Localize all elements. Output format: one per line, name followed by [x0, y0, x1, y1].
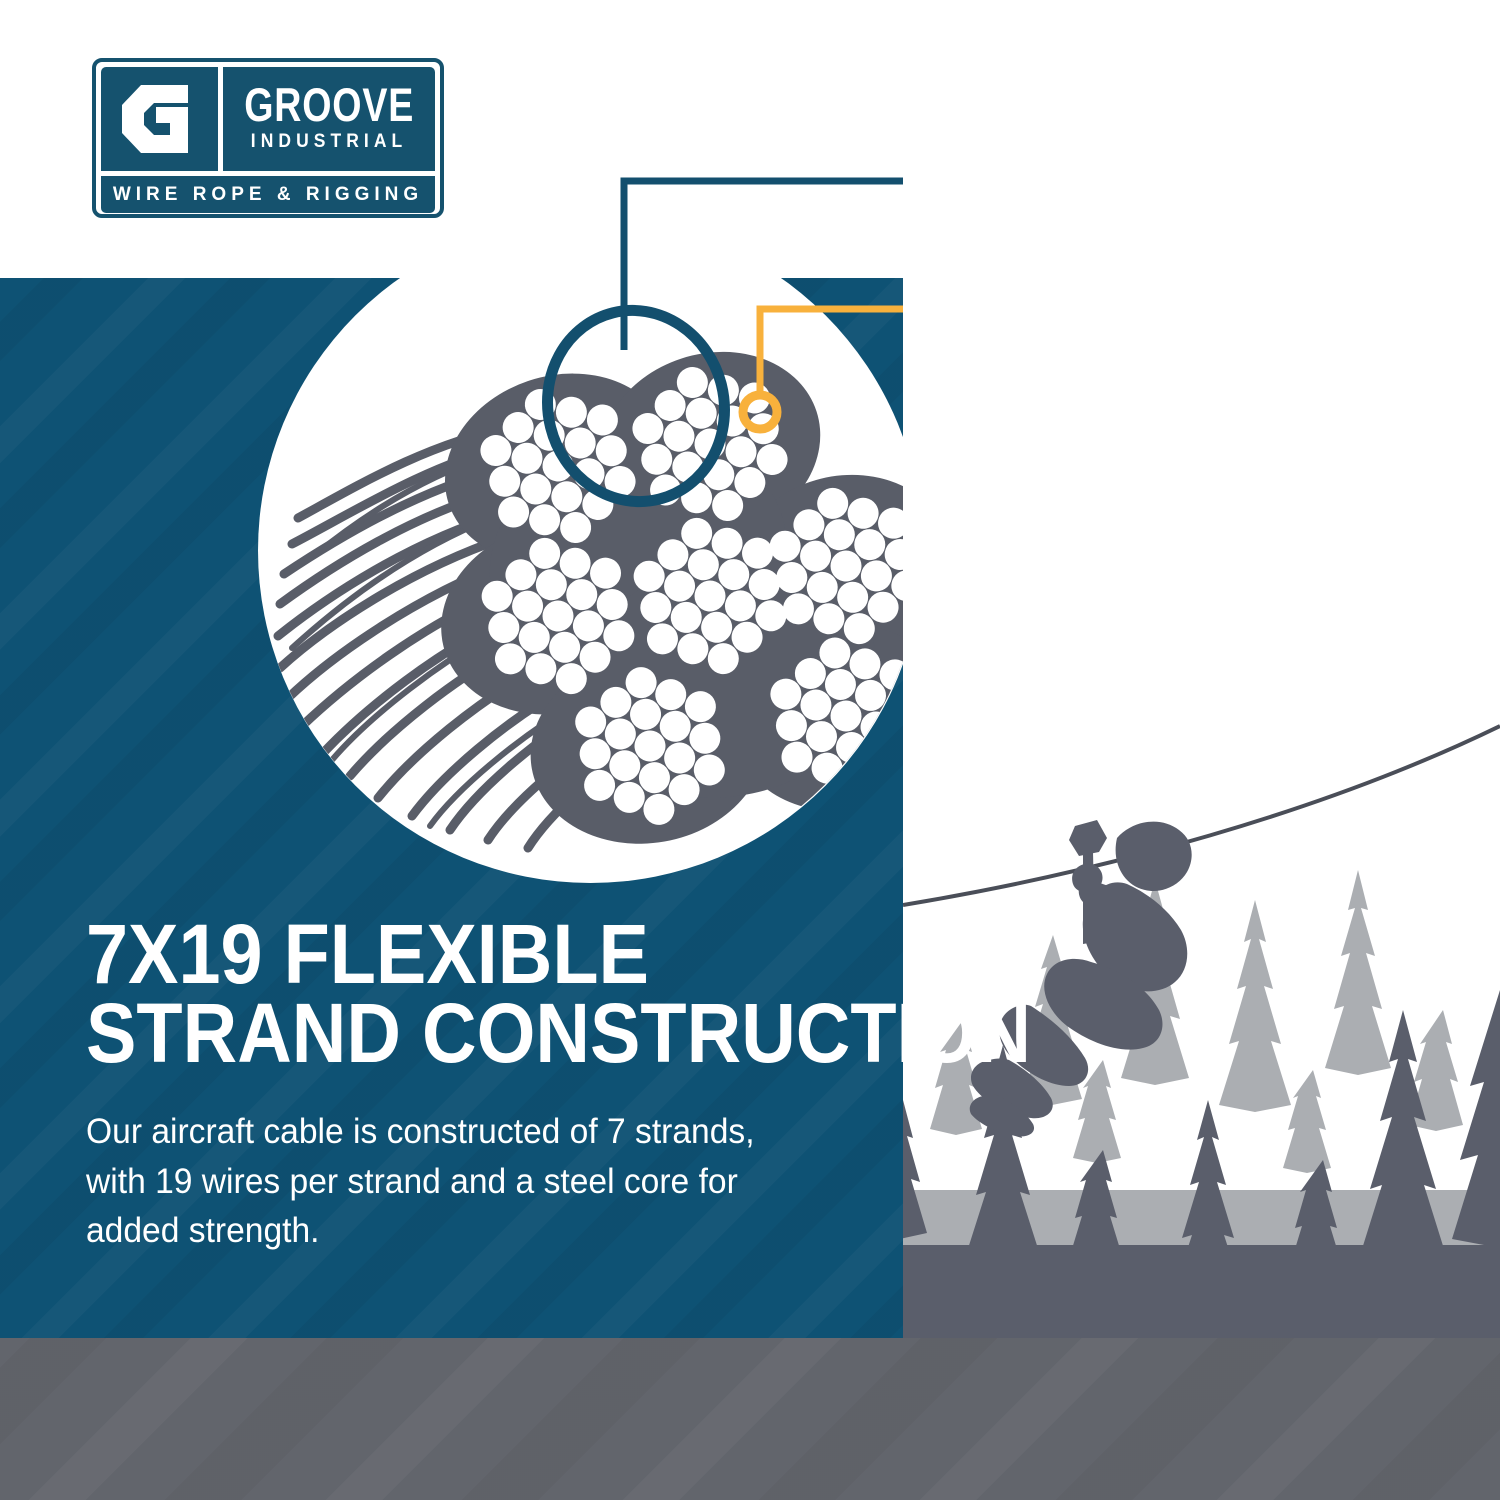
infographic-canvas: 7 STRANDS 19 WIRES PER STRAND HOT DIP GA…: [0, 0, 1500, 1500]
page-title: 7X19 FLEXIBLE STRAND CONSTRUCTION: [86, 915, 797, 1073]
bottom-gray-band: [0, 1338, 1500, 1500]
brand-logo[interactable]: GROOVE INDUSTRIAL WIRE ROPE & RIGGING: [92, 58, 444, 218]
band-stripe-texture: [0, 1338, 1500, 1500]
page-description: Our aircraft cable is constructed of 7 s…: [86, 1107, 758, 1256]
brand-name-line1: GROOVE: [244, 83, 414, 127]
brand-name-line2: INDUSTRIAL: [251, 131, 407, 153]
headline-block: 7X19 FLEXIBLE STRAND CONSTRUCTION Our ai…: [86, 915, 876, 1256]
zipline-rider-icon: [970, 820, 1192, 1136]
zipline-scene: [903, 0, 1500, 1338]
brand-tagline-bar: WIRE ROPE & RIGGING: [101, 176, 435, 213]
zipline-cable-icon: [903, 726, 1500, 905]
wire-rope-illustration: [258, 218, 938, 898]
brand-tagline: WIRE ROPE & RIGGING: [113, 184, 423, 206]
page-title-line2: STRAND CONSTRUCTION: [86, 994, 797, 1073]
groove-g-monogram-icon: [101, 67, 218, 171]
